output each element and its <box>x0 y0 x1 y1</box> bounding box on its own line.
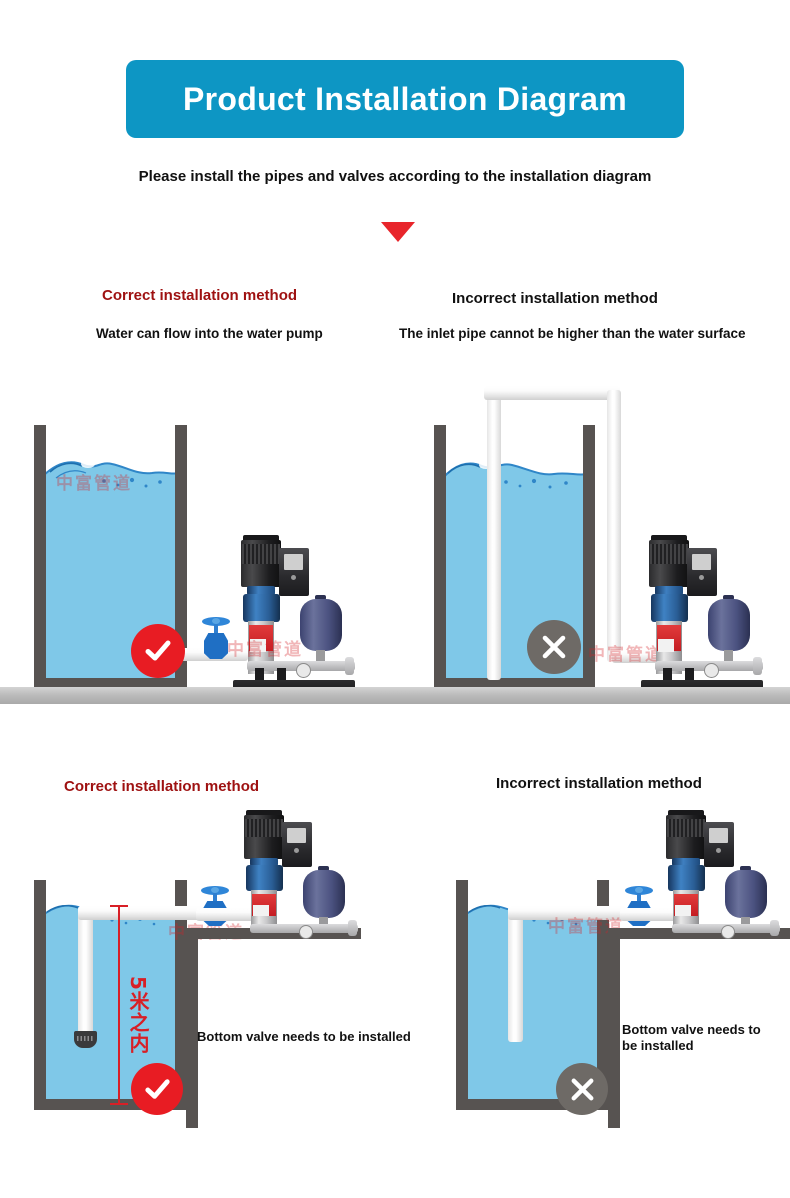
cross-icon <box>538 631 570 663</box>
page-title: Product Installation Diagram <box>183 81 627 118</box>
bottom-left-caption: Bottom valve needs to be installed <box>197 1029 437 1045</box>
manifold-flange <box>345 657 354 675</box>
dimension-tick-bottom <box>110 1103 128 1105</box>
check-icon <box>141 634 175 668</box>
manifold-flange <box>770 920 779 936</box>
bottom-right-caption-line-1: Bottom valve needs to <box>622 1022 782 1038</box>
top-right-crossover-pipe <box>484 386 620 400</box>
bottom-left-section-title: Correct installation method <box>64 778 259 795</box>
motor-fins <box>242 544 280 564</box>
pressure-tank <box>300 599 342 651</box>
pump-white-label <box>253 905 269 916</box>
pressure-tank <box>708 599 750 651</box>
tank-wall-left <box>34 425 46 687</box>
control-box-led <box>699 575 704 580</box>
bottom-right-caption: Bottom valve needs to be installed <box>622 1022 782 1055</box>
ground-floor-strip <box>0 687 790 704</box>
bottom-right-cross-badge <box>556 1063 608 1115</box>
tank-wall-left <box>456 880 468 1108</box>
control-box-screen <box>709 828 728 843</box>
dimension-tick-top <box>110 905 128 907</box>
control-box-led <box>294 848 299 853</box>
pressure-tank <box>725 870 767 918</box>
pump-white-label <box>250 639 266 652</box>
triangle-down-icon <box>381 222 415 242</box>
control-box-screen <box>284 554 303 570</box>
control-box-led <box>291 575 296 580</box>
bottom-left-support-wall <box>186 928 198 1128</box>
valve-body <box>204 633 228 659</box>
pressure-gauge <box>721 925 735 939</box>
control-box-led <box>716 848 721 853</box>
motor-fins <box>667 819 705 837</box>
top-right-section-subtitle: The inlet pipe cannot be higher than the… <box>399 326 746 341</box>
bottom-right-inlet-pipe <box>508 906 626 920</box>
bottom-left-pump-assembly <box>236 810 361 940</box>
top-right-cross-badge <box>527 620 581 674</box>
pressure-tank <box>303 870 345 918</box>
manifold-flange <box>348 920 357 936</box>
top-right-downcomer-pipe <box>607 390 621 662</box>
top-right-riser-pipe-inner <box>487 390 501 680</box>
bottom-right-support-wall <box>608 928 620 1128</box>
pump-body <box>668 865 705 891</box>
bottom-right-caption-line-2: be installed <box>622 1038 782 1054</box>
pressure-gauge <box>299 925 313 939</box>
page-title-banner: Product Installation Diagram <box>126 60 684 138</box>
top-left-section-title: Correct installation method <box>102 287 297 304</box>
dimension-label: 5米之内 <box>124 976 153 1054</box>
pump-white-label <box>658 639 674 652</box>
water-surface-wave <box>442 455 587 495</box>
bottom-left-foot-valve-strainer <box>74 1031 97 1048</box>
motor-fins <box>650 544 688 564</box>
pump-white-label <box>675 905 691 916</box>
top-left-pump-assembly: 中富管道 <box>233 535 358 693</box>
top-left-check-badge <box>131 624 185 678</box>
bottom-right-suction-pipe <box>508 912 523 1042</box>
pressure-gauge <box>704 663 719 678</box>
manifold-flange <box>753 657 762 675</box>
pressure-gauge <box>296 663 311 678</box>
top-left-gate-valve[interactable] <box>196 617 236 665</box>
bottom-right-section-title: Incorrect installation method <box>496 775 702 792</box>
check-icon <box>141 1073 174 1106</box>
cross-icon <box>567 1074 598 1105</box>
tank-wall-left <box>34 880 46 1108</box>
water-surface-wave <box>42 455 179 495</box>
pump-body <box>246 865 283 891</box>
dimension-line-vertical <box>118 905 120 1105</box>
control-box-screen <box>287 828 306 843</box>
pump-body <box>651 594 688 622</box>
top-right-section-title: Incorrect installation method <box>452 290 658 307</box>
top-left-section-subtitle: Water can flow into the water pump <box>96 326 323 341</box>
tank-wall-left <box>434 425 446 687</box>
tank-wall-right <box>583 425 595 687</box>
control-box-screen <box>692 554 711 570</box>
bottom-left-suction-pipe <box>78 912 93 1034</box>
bottom-left-check-badge <box>131 1063 183 1115</box>
bottom-left-inlet-pipe <box>78 906 203 920</box>
page-subtitle: Please install the pipes and valves acco… <box>0 168 790 185</box>
bottom-right-pump-assembly <box>658 810 783 940</box>
pump-body <box>243 594 280 622</box>
motor-fins <box>245 819 283 837</box>
top-right-pump-assembly <box>641 535 766 693</box>
